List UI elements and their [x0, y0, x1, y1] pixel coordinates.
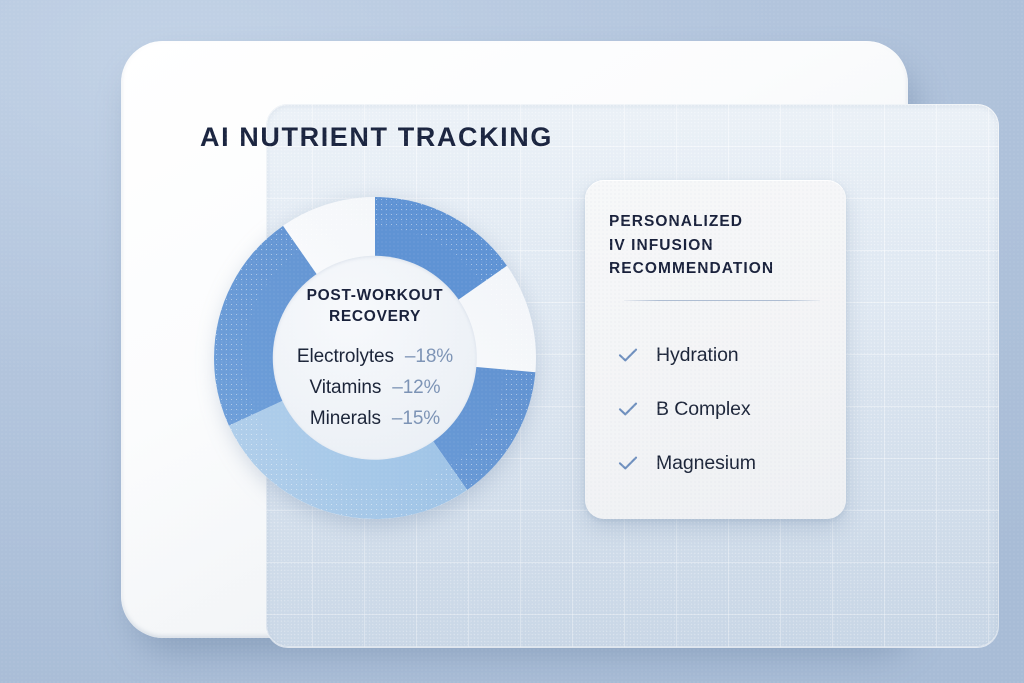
list-item-label-hydration: Hydration [656, 344, 739, 367]
donut-center-title-line1: POST-WORKOUT [307, 286, 444, 306]
list-item-hydration[interactable]: Hydration [617, 328, 827, 382]
metric-label-electrolytes: Electrolytes [297, 346, 394, 368]
donut-center-title-line2: RECOVERY [307, 307, 444, 327]
page-title: AI NUTRIENT TRACKING [200, 122, 553, 153]
nutrient-donut-chart[interactable]: POST-WORKOUT RECOVERY Electrolytes –18% … [214, 197, 536, 519]
metric-value-electrolytes: –18% [405, 346, 453, 368]
metric-row-electrolytes: Electrolytes –18% [297, 346, 453, 368]
recommendation-list: Hydration B Complex Magnesium [617, 328, 827, 490]
list-item-magnesium[interactable]: Magnesium [617, 436, 827, 490]
card-title-line3: RECOMMENDATION [609, 257, 774, 281]
list-item-label-b-complex: B Complex [656, 398, 750, 421]
card-title-line1: PERSONALIZED [609, 210, 774, 234]
screenshot-stage: AI NUTRIENT TRACKING [0, 0, 1024, 683]
metric-value-minerals: –15% [392, 408, 440, 430]
card-title-line2: IV INFUSION [609, 234, 774, 258]
card-divider [624, 300, 820, 301]
check-icon [617, 398, 639, 420]
iv-infusion-recommendation-card[interactable]: PERSONALIZED IV INFUSION RECOMMENDATION … [585, 180, 846, 519]
metric-value-vitamins: –12% [392, 377, 440, 399]
list-item-label-magnesium: Magnesium [656, 452, 756, 475]
donut-center-panel: POST-WORKOUT RECOVERY Electrolytes –18% … [273, 256, 477, 460]
donut-center-title: POST-WORKOUT RECOVERY [307, 286, 444, 327]
list-item-b-complex[interactable]: B Complex [617, 382, 827, 436]
metric-row-vitamins: Vitamins –12% [310, 377, 441, 399]
metric-label-minerals: Minerals [310, 408, 381, 430]
check-icon [617, 452, 639, 474]
check-icon [617, 344, 639, 366]
metric-row-minerals: Minerals –15% [310, 408, 440, 430]
metric-label-vitamins: Vitamins [310, 377, 382, 399]
card-title: PERSONALIZED IV INFUSION RECOMMENDATION [609, 210, 774, 281]
